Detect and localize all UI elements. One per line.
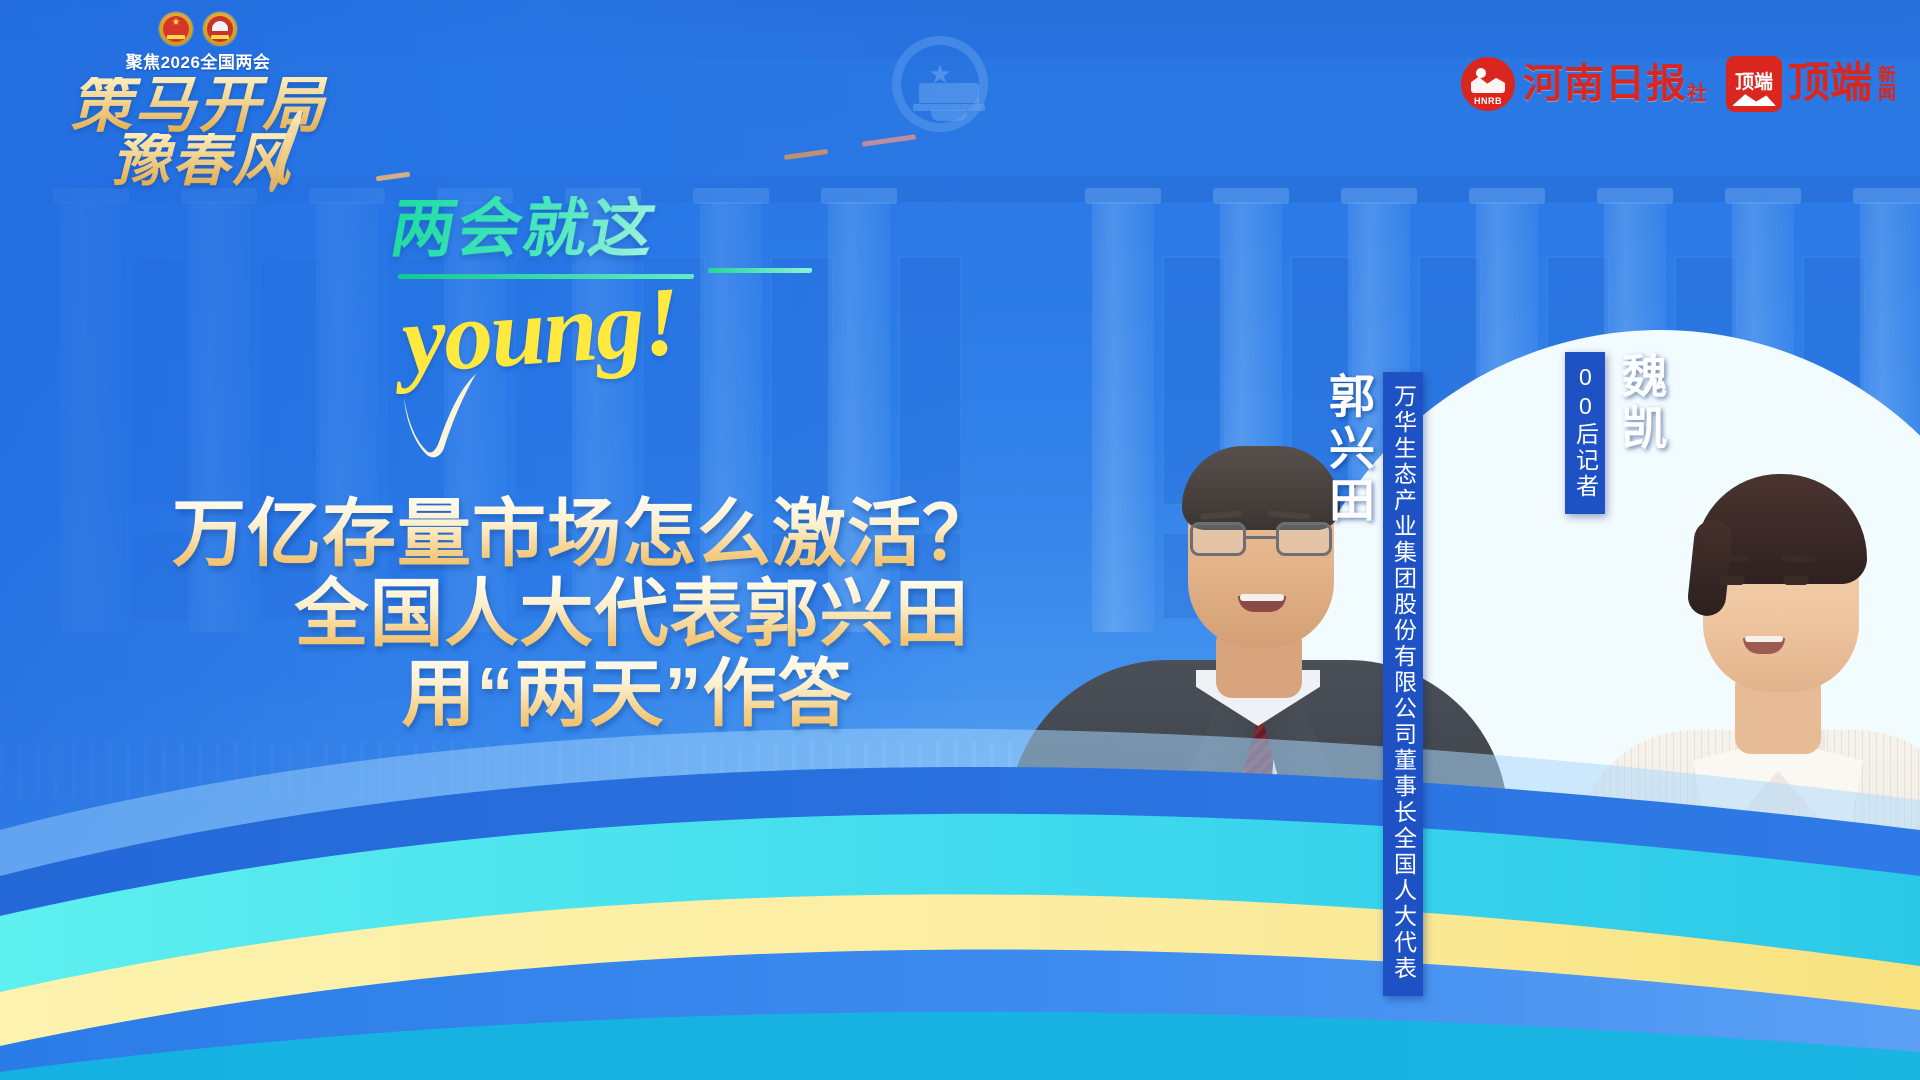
media-logo-group: HNRB 河南日报社 顶端 顶端 新 闻: [1461, 56, 1896, 112]
guest-name-guo: 郭兴田: [1325, 372, 1371, 528]
hnrb-seal-icon: HNRB: [1461, 57, 1515, 111]
npc-emblem-bar: [167, 35, 185, 39]
headline-line-1: 万亿存量市场怎么激活？: [172, 494, 1072, 574]
headline-line-3: 用“两天”作答: [172, 654, 1072, 734]
hnrb-seal-text: HNRB: [1461, 96, 1515, 106]
poster-canvas: ★ ····: [0, 0, 1920, 1080]
guest-teeth: [1240, 594, 1284, 601]
cppcc-emblem-icon: [203, 12, 237, 46]
calligraphy-line-2: 豫春风: [112, 133, 328, 189]
reporter-eye-left: [1719, 576, 1745, 585]
campaign-kicker: 聚焦2026全国两会: [68, 48, 328, 73]
henan-daily-logo[interactable]: HNRB 河南日报社: [1461, 57, 1708, 111]
npc-emblem-icon: ★: [159, 12, 193, 46]
npc-emblem-star-icon: ★: [172, 18, 181, 28]
dingduan-mark-text: 顶端: [1735, 67, 1773, 94]
hnrb-dot-icon: [1476, 68, 1486, 78]
dingduan-subwordmark: 新 闻: [1878, 66, 1896, 102]
page-title: 万亿存量市场怎么激活？ 全国人大代表郭兴田 用“两天”作答: [172, 494, 1072, 734]
dingduan-mark-icon: 顶端: [1726, 56, 1782, 112]
check-mark-icon: [398, 372, 494, 458]
dingduan-sub-1: 新: [1878, 66, 1896, 84]
reporter-title-badge: 00后记者: [1565, 352, 1605, 514]
glasses-lens-left: [1190, 522, 1246, 556]
henan-daily-wordmark: 河南日报社: [1523, 64, 1708, 104]
guest-label-guo-xingtian: 郭兴田 万华生态产业集团股份有限公司董事长全国人大代表: [1325, 372, 1423, 996]
guest-title-badge-guo: 万华生态产业集团股份有限公司董事长全国人大代表: [1383, 372, 1423, 996]
dingduan-news-logo[interactable]: 顶端 顶端 新 闻: [1726, 56, 1896, 112]
guest-title-col-1: 全国人大代表: [1390, 826, 1416, 982]
cppcc-emblem-dome-icon: [212, 21, 228, 31]
campaign-logo: ★ 聚焦2026全国两会 策马开局 豫春风: [68, 12, 328, 188]
guest-glasses-icon: [1190, 522, 1332, 556]
campaign-calligraphy: 策马开局 豫春风: [68, 77, 328, 188]
reporter-label-wei-kai: 00后记者 魏凯: [1565, 352, 1663, 514]
henan-daily-wordmark-main: 河南日报: [1523, 61, 1687, 106]
henan-daily-wordmark-suffix: 社: [1687, 83, 1708, 105]
bottom-wave-decoration: [0, 680, 1920, 1080]
program-logo-underline-2: [708, 268, 813, 273]
program-logo: 两会就这 young!: [392, 196, 952, 406]
campaign-emblems: ★: [68, 12, 328, 46]
headline-line-2: 全国人大代表郭兴田: [172, 574, 1072, 654]
reporter-name-wei: 魏凯: [1617, 352, 1663, 456]
guest-title-col-2: 万华生态产业集团股份有限公司董事长: [1390, 384, 1416, 826]
reporter-teeth: [1745, 636, 1783, 642]
glasses-bridge: [1246, 536, 1276, 539]
dingduan-wordmark: 顶端: [1788, 63, 1872, 105]
hnrb-wave-icon: [1471, 75, 1505, 93]
cppcc-emblem-bar: [211, 35, 229, 39]
dingduan-sub-2: 闻: [1878, 84, 1896, 102]
program-logo-cn-text: 两会就这: [386, 196, 957, 260]
reporter-eye-right: [1783, 576, 1809, 585]
